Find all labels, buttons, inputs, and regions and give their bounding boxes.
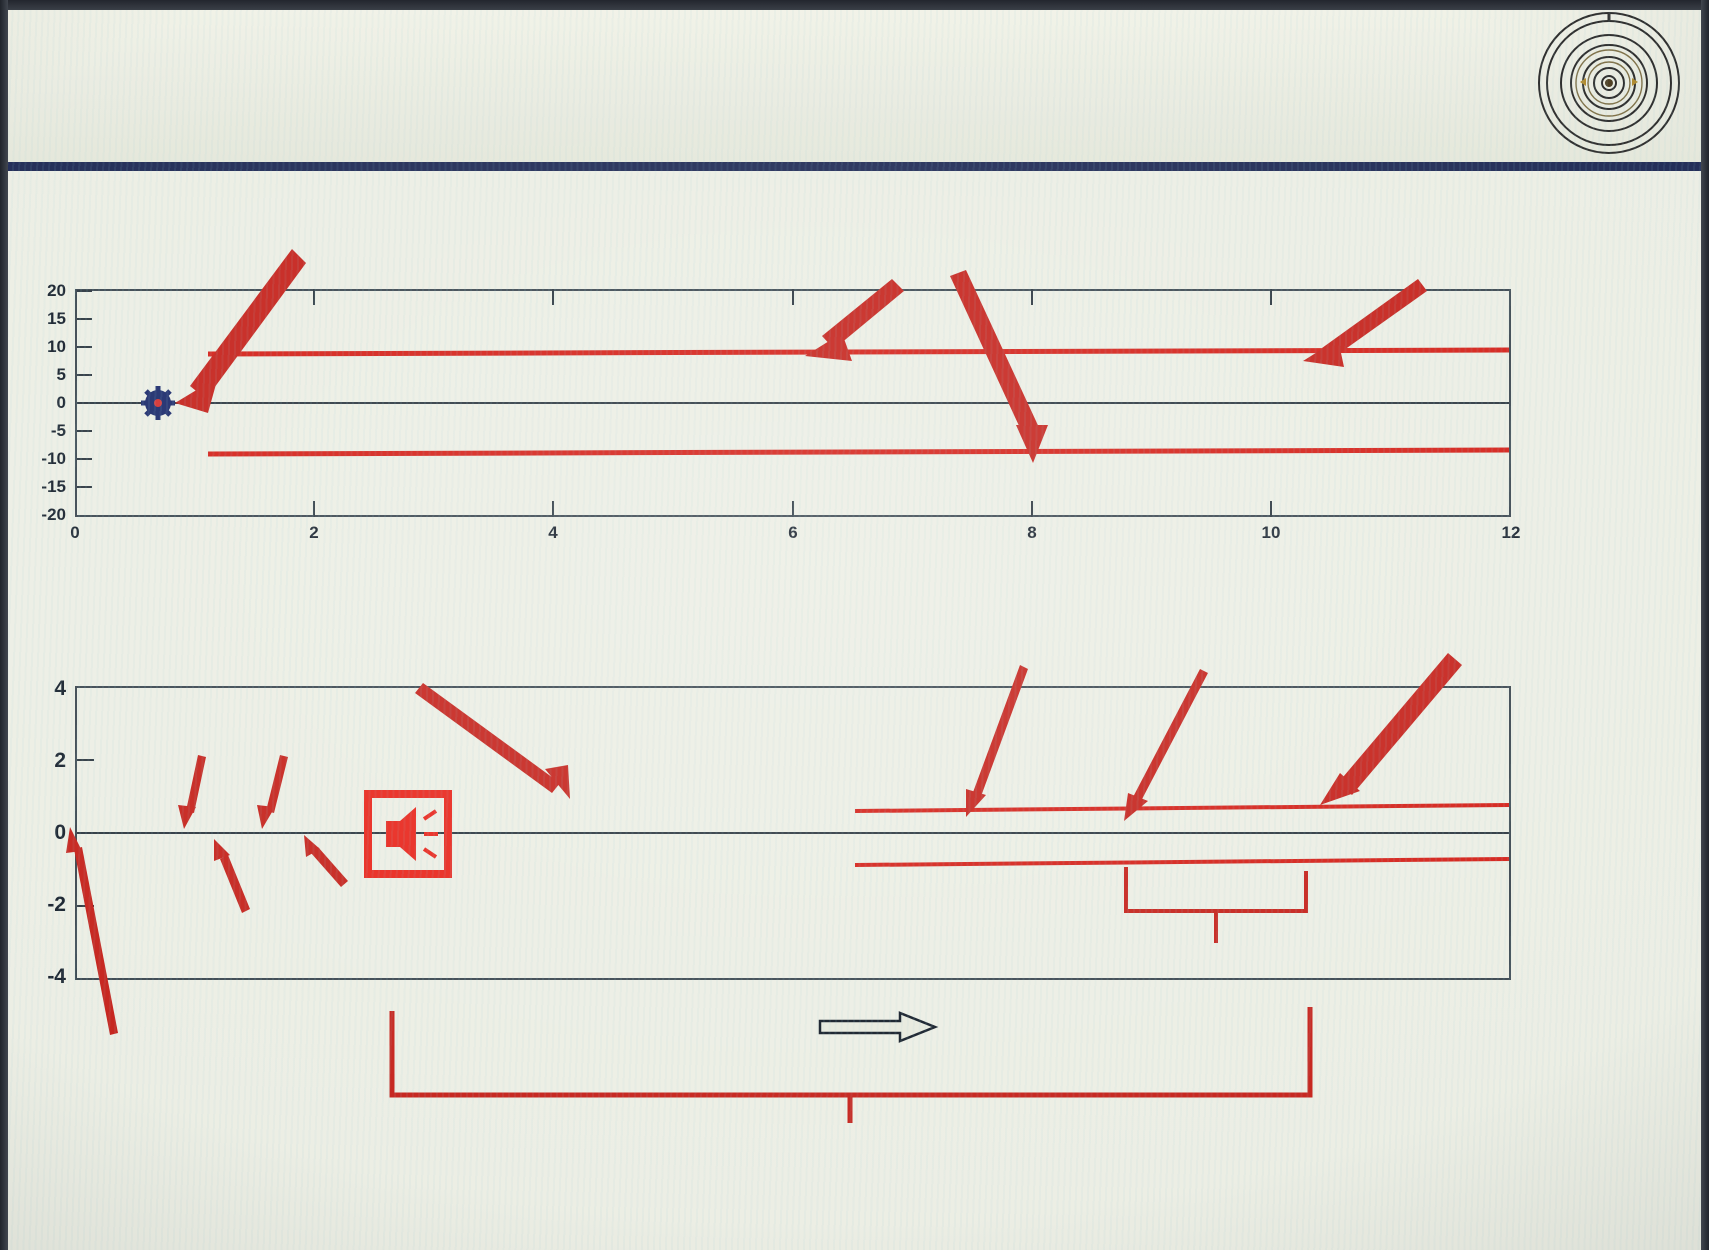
top-ytick-0: 0 [22,393,66,413]
slide-header [0,0,1709,171]
top-ytick-5: 5 [22,365,66,385]
brand-footer [1598,1220,1697,1244]
monitor-bezel-left [0,0,8,1250]
bottom-chart-frame [75,686,1511,980]
top-xtick-2: 2 [299,523,329,543]
top-xtick-4: 4 [538,523,568,543]
bottom-ytick-m4: -4 [22,965,66,989]
top-ytick-m15: -15 [22,477,66,497]
time-direction-arrow [820,1013,935,1041]
top-ytick-15: 15 [22,309,66,329]
top-xtick-6: 6 [778,523,808,543]
bottom-ytick-4: 4 [22,677,66,701]
bottom-ytick-0: 0 [22,821,66,845]
top-ytick-10: 10 [22,337,66,357]
brand-square-3 [1673,1220,1697,1244]
brand-square-2 [1640,1220,1664,1244]
monitor-bezel-top [0,0,1709,10]
monitor-bezel-right [1701,0,1709,1250]
top-xtick-0: 0 [60,523,90,543]
top-ytick-m5: -5 [22,421,66,441]
bottom-ytick-m2: -2 [22,893,66,917]
top-ytick-m20: -20 [22,505,66,525]
top-xtick-8: 8 [1017,523,1047,543]
iit-roorkee-seal-icon [1534,8,1684,158]
top-chart-frame [75,289,1511,517]
top-xtick-10: 10 [1256,523,1286,543]
bottom-ytick-2: 2 [22,749,66,773]
top-ytick-m10: -10 [22,449,66,469]
top-ytick-20: 20 [22,281,66,301]
slide-root: 20 15 10 5 0 -5 -10 -15 -20 0 2 4 6 8 10… [0,0,1709,1250]
top-xtick-12: 12 [1496,523,1526,543]
chart-stage: 20 15 10 5 0 -5 -10 -15 -20 0 2 4 6 8 10… [0,171,1709,1250]
brand-square-1 [1607,1220,1631,1244]
lead-time-regional-bracket [392,1007,1310,1123]
